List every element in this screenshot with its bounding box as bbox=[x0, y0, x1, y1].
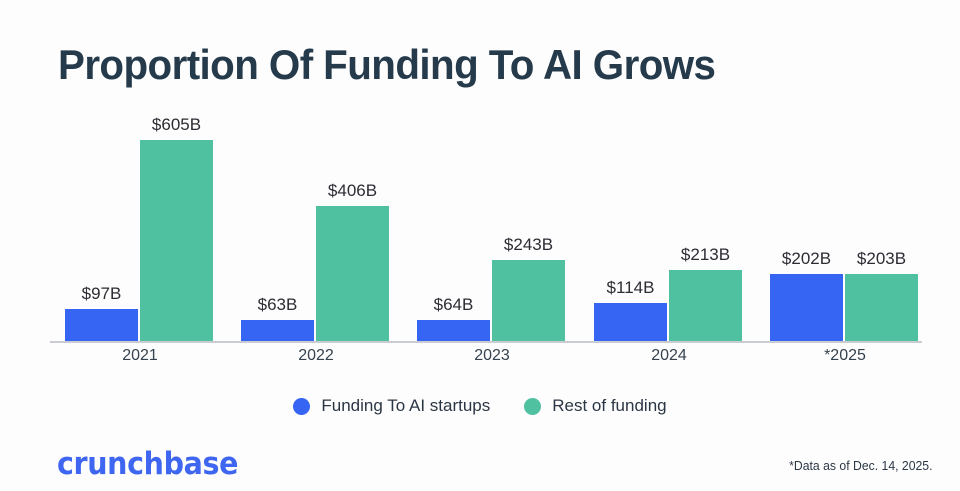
bar-2024-ai[interactable] bbox=[594, 303, 667, 341]
bar-2022-rest[interactable] bbox=[316, 206, 389, 341]
bar-2021-ai[interactable] bbox=[65, 309, 138, 341]
bar-value-label: $243B bbox=[492, 235, 565, 255]
bar-value-label: $63B bbox=[241, 295, 314, 315]
x-axis-tick-label: 2024 bbox=[609, 347, 729, 365]
bar-2021-rest[interactable] bbox=[140, 140, 213, 341]
chart-footer: crunchbase *Data as of Dec. 14, 2025. bbox=[0, 442, 960, 491]
bar-value-label: $605B bbox=[140, 115, 213, 135]
bar-2025-ai[interactable] bbox=[770, 274, 843, 341]
x-axis-tick-label: 2022 bbox=[256, 347, 376, 365]
bar-2022-ai[interactable] bbox=[241, 320, 314, 341]
x-axis-tick-label: *2025 bbox=[785, 347, 905, 365]
bar-2024-rest[interactable] bbox=[669, 270, 742, 341]
bar-value-label: $406B bbox=[316, 181, 389, 201]
legend-item-ai[interactable]: Funding To AI startups bbox=[293, 396, 490, 416]
legend-label-ai: Funding To AI startups bbox=[321, 396, 490, 416]
data-source-note: *Data as of Dec. 14, 2025. bbox=[789, 458, 932, 473]
bar-value-label: $213B bbox=[669, 245, 742, 265]
legend-label-rest: Rest of funding bbox=[552, 396, 666, 416]
x-axis-tick-label: 2023 bbox=[432, 347, 552, 365]
bar-value-label: $114B bbox=[594, 278, 667, 298]
chart-page: Proportion Of Funding To AI Grows $97B$6… bbox=[0, 0, 960, 491]
bar-2025-rest[interactable] bbox=[845, 274, 918, 341]
bar-chart-plot: $97B$605B2021$63B$406B2022$64B$243B2023$… bbox=[0, 0, 960, 345]
crunchbase-logo[interactable]: crunchbase bbox=[57, 446, 238, 482]
chart-legend: Funding To AI startups Rest of funding bbox=[0, 396, 960, 416]
bar-value-label: $202B bbox=[770, 249, 843, 269]
bar-value-label: $203B bbox=[845, 249, 918, 269]
circle-icon bbox=[524, 398, 541, 415]
bar-2023-ai[interactable] bbox=[417, 320, 490, 341]
bar-value-label: $97B bbox=[65, 284, 138, 304]
legend-item-rest[interactable]: Rest of funding bbox=[524, 396, 666, 416]
x-axis-line bbox=[50, 341, 922, 343]
x-axis-tick-label: 2021 bbox=[80, 347, 200, 365]
bar-2023-rest[interactable] bbox=[492, 260, 565, 341]
bar-value-label: $64B bbox=[417, 295, 490, 315]
circle-icon bbox=[293, 398, 310, 415]
